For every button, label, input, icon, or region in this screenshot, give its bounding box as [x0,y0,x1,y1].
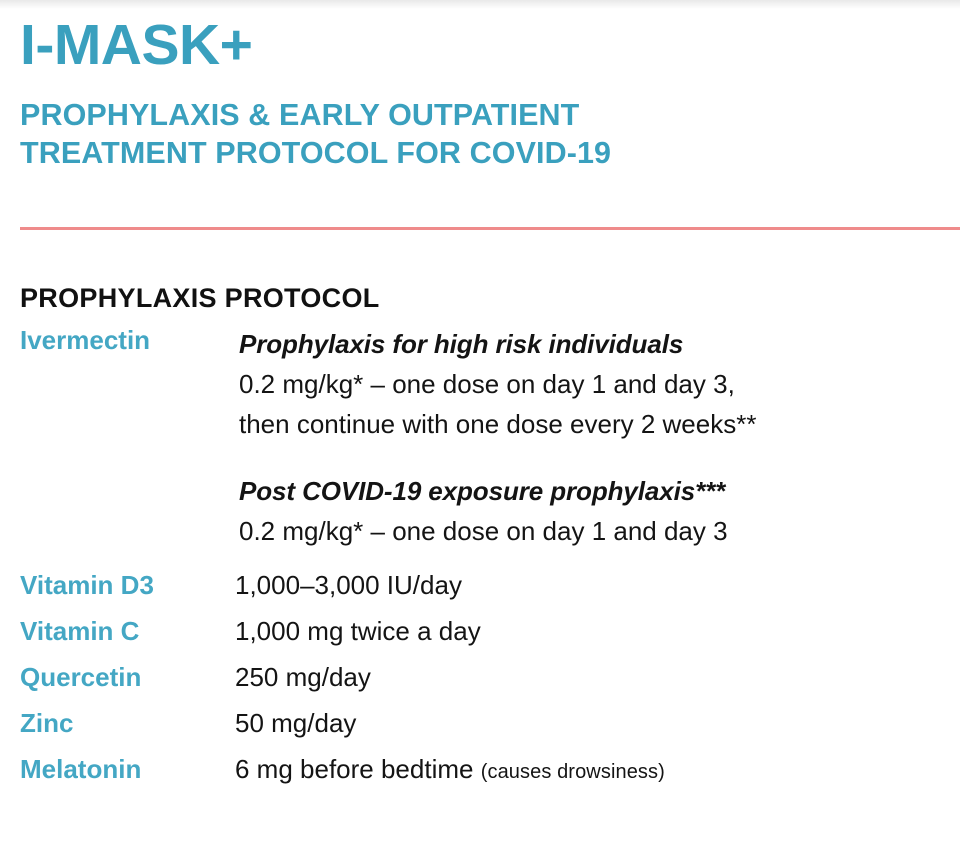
table-row: Quercetin 250 mg/day [20,648,950,694]
drug-dosage-melatonin: 6 mg before bedtime (causes drowsiness) [235,740,950,789]
page-subtitle-line-2: TREATMENT PROTOCOL FOR COVID-19 [20,134,960,172]
drug-dosage-melatonin-value: 6 mg before bedtime [235,754,473,784]
prophylaxis-protocol-section: PROPHYLAXIS PROTOCOL Ivermectin Prophyla… [0,282,960,789]
drug-label-zinc: Zinc [20,694,235,740]
protocol-page: I-MASK+ PROPHYLAXIS & EARLY OUTPATIENT T… [0,0,960,172]
drug-label-quercetin: Quercetin [20,648,235,694]
page-title: I-MASK+ [20,8,960,77]
page-subtitle-line-1: PROPHYLAXIS & EARLY OUTPATIENT [20,96,960,134]
document-header: I-MASK+ PROPHYLAXIS & EARLY OUTPATIENT T… [0,0,960,172]
dose-group-heading: Prophylaxis for high risk individuals [239,324,950,364]
table-row: Melatonin 6 mg before bedtime (causes dr… [20,740,950,789]
section-heading: PROPHYLAXIS PROTOCOL [20,282,960,314]
drug-dosage-quercetin: 250 mg/day [235,648,950,694]
dose-line: 0.2 mg/kg* – one dose on day 1 and day 3 [239,511,950,551]
drug-dosage-melatonin-note: (causes drowsiness) [481,761,665,783]
table-row: Vitamin D3 1,000–3,000 IU/day [20,551,950,602]
header-divider-rule [20,227,960,230]
page-subtitle: PROPHYLAXIS & EARLY OUTPATIENT TREATMENT… [20,77,960,172]
protocol-table: Ivermectin Prophylaxis for high risk ind… [20,320,950,789]
drug-dosage-zinc: 50 mg/day [235,694,950,740]
drug-label-vitamin-c: Vitamin C [20,602,235,648]
table-row: Zinc 50 mg/day [20,694,950,740]
table-row: Vitamin C 1,000 mg twice a day [20,602,950,648]
drug-label-vitamin-d3: Vitamin D3 [20,551,235,602]
drug-label-ivermectin: Ivermectin [20,320,235,551]
dose-group-high-risk: Prophylaxis for high risk individuals 0.… [239,324,950,444]
dose-line: then continue with one dose every 2 week… [239,404,950,444]
dose-group-post-exposure: Post COVID-19 exposure prophylaxis*** 0.… [239,471,950,551]
dose-line: 0.2 mg/kg* – one dose on day 1 and day 3… [239,364,950,404]
table-row: Ivermectin Prophylaxis for high risk ind… [20,320,950,551]
drug-dosage-ivermectin: Prophylaxis for high risk individuals 0.… [235,320,950,551]
drug-dosage-vitamin-d3: 1,000–3,000 IU/day [235,551,950,602]
drug-label-melatonin: Melatonin [20,740,235,789]
dose-group-heading: Post COVID-19 exposure prophylaxis*** [239,471,950,511]
drug-dosage-vitamin-c: 1,000 mg twice a day [235,602,950,648]
